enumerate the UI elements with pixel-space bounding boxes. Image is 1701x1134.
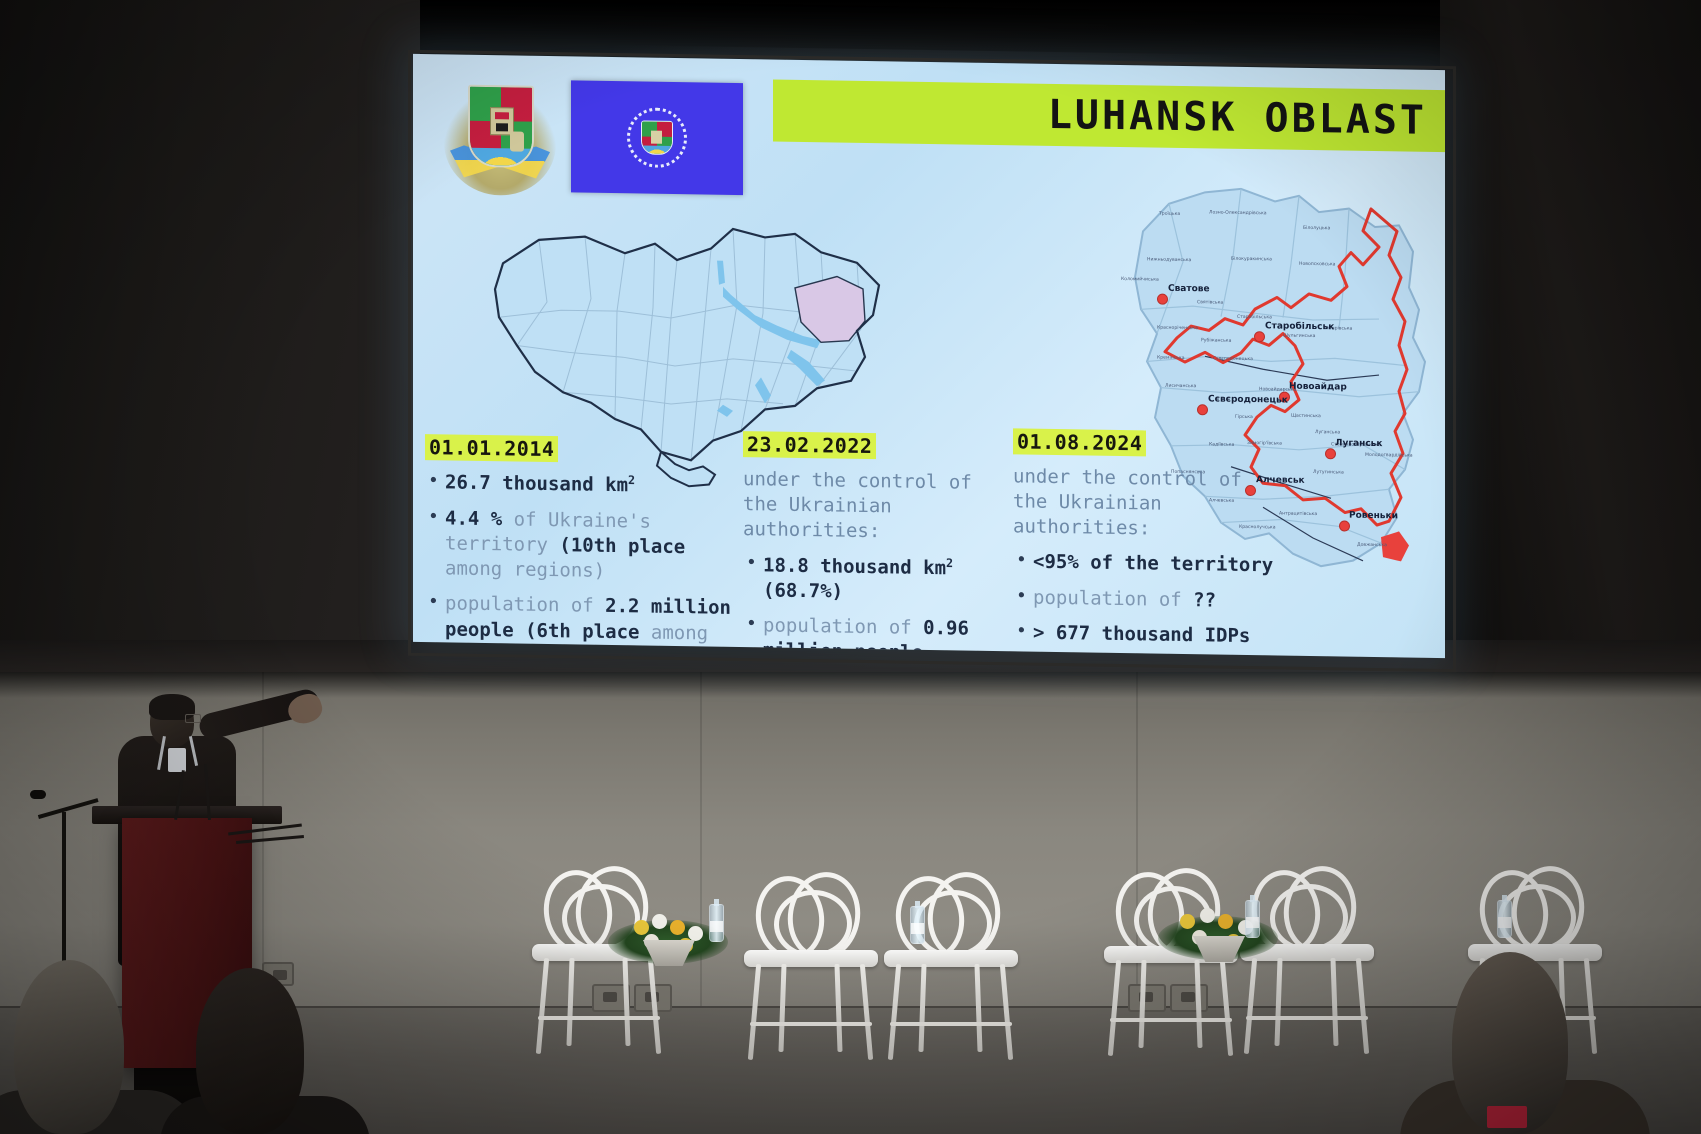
city-label: Новоайдар xyxy=(1289,382,1347,393)
audience-head xyxy=(196,968,304,1134)
city-label: Сєвєродонецьк xyxy=(1208,394,1288,405)
map-label: Білокуракинська xyxy=(1231,257,1272,263)
conference-room-photo: LUHANSK OBLAST xyxy=(0,0,1701,1134)
wall-right xyxy=(1440,0,1701,680)
flag-icon xyxy=(571,80,743,195)
city-label: Старобільськ xyxy=(1265,321,1334,332)
water-bottle xyxy=(709,904,724,942)
shield xyxy=(468,85,534,168)
page-title: LUHANSK OBLAST xyxy=(1048,92,1427,144)
water-bottle xyxy=(1245,900,1260,938)
water-bottle xyxy=(1497,900,1512,938)
column-lead: under the control of the Ukrainian autho… xyxy=(743,467,993,546)
bullet-list: 18.8 thousand km2 (68.7%) population of … xyxy=(743,552,993,658)
glasses-icon xyxy=(185,714,201,723)
bullet-list: 26.7 thousand km2 4.4 % of Ukraine's ter… xyxy=(425,470,745,658)
list-item: > 677 thousand IDPs xyxy=(1013,620,1283,650)
bullet-list: <95% of the territory population of ?? >… xyxy=(1013,550,1283,650)
map-label: Антрацитівська xyxy=(1279,511,1317,517)
map-label: Довжанська xyxy=(1357,543,1387,548)
coat-of-arms-icon xyxy=(440,76,560,198)
map-label: Луганська xyxy=(1315,430,1340,435)
slide-title-bar: LUHANSK OBLAST xyxy=(773,80,1445,153)
map-label: Лисичанська xyxy=(1165,384,1196,389)
map-label: Щастинська xyxy=(1291,414,1321,419)
map-label: Лозно-Олександрівська xyxy=(1209,210,1267,216)
list-item: 26.7 thousand km2 xyxy=(425,470,745,501)
map-label: Красноріченська xyxy=(1157,326,1198,332)
presentation-slide: LUHANSK OBLAST xyxy=(413,54,1445,658)
list-item: 4.4 % of Ukraine's territory (10th place… xyxy=(425,506,745,587)
list-item: <95% of the territory xyxy=(1013,550,1283,580)
city-label: Луганськ xyxy=(1335,438,1382,449)
city-label: Сватове xyxy=(1168,284,1210,295)
list-item: population of ?? xyxy=(1013,585,1283,615)
microphone-head xyxy=(30,790,46,799)
map-label: Сєвєродонецька xyxy=(1213,356,1253,362)
date-badge: 01.01.2014 xyxy=(425,434,558,462)
stat-column-2014: 01.01.2014 26.7 thousand km2 4.4 % of Uk… xyxy=(425,434,745,658)
map-label: Лутугинська xyxy=(1313,470,1344,475)
wall-shadow xyxy=(0,672,1701,698)
city-marker xyxy=(1254,331,1265,342)
map-label: Білолуцька xyxy=(1303,226,1330,231)
projection-screen: LUHANSK OBLAST xyxy=(413,54,1445,658)
list-item: 18.8 thousand km2 (68.7%) xyxy=(743,552,993,607)
map-label: Кремінська xyxy=(1157,356,1185,361)
water-bottle xyxy=(910,906,925,944)
map-label: Старобільська xyxy=(1237,315,1272,321)
map-label: Троїцька xyxy=(1159,212,1180,217)
chair xyxy=(876,872,1026,1062)
flower-bouquet xyxy=(1158,896,1278,962)
map-label: Святівська xyxy=(1197,300,1223,305)
map-label: Новопсковська xyxy=(1299,262,1335,268)
map-label: Шульгинська xyxy=(1283,334,1316,340)
city-marker xyxy=(1325,448,1336,459)
map-label: Гірська xyxy=(1235,415,1253,420)
date-badge: 01.08.2024 xyxy=(1013,428,1146,456)
audience-head xyxy=(14,960,124,1134)
city-marker xyxy=(1339,520,1350,531)
map-label: Коломийчиська xyxy=(1121,277,1159,283)
city-marker xyxy=(1197,404,1208,415)
city-label: Ровеньки xyxy=(1349,511,1398,522)
badge xyxy=(168,748,186,772)
chair xyxy=(736,872,886,1062)
city-marker xyxy=(1157,294,1168,305)
map-label: Рубіжанська xyxy=(1201,338,1231,343)
map-label: Молодогвардійська xyxy=(1365,453,1413,459)
flag-emblem xyxy=(627,107,687,168)
date-badge: 23.02.2022 xyxy=(743,431,876,459)
audience-badge xyxy=(1487,1106,1527,1128)
stat-column-2022: 23.02.2022 under the control of the Ukra… xyxy=(743,431,993,658)
map-label: Нижньодуванська xyxy=(1147,257,1191,263)
column-lead: under the control of the Ukrainian autho… xyxy=(1013,464,1283,543)
wall-left xyxy=(0,0,420,680)
stat-column-2024: 01.08.2024 under the control of the Ukra… xyxy=(1013,428,1283,658)
